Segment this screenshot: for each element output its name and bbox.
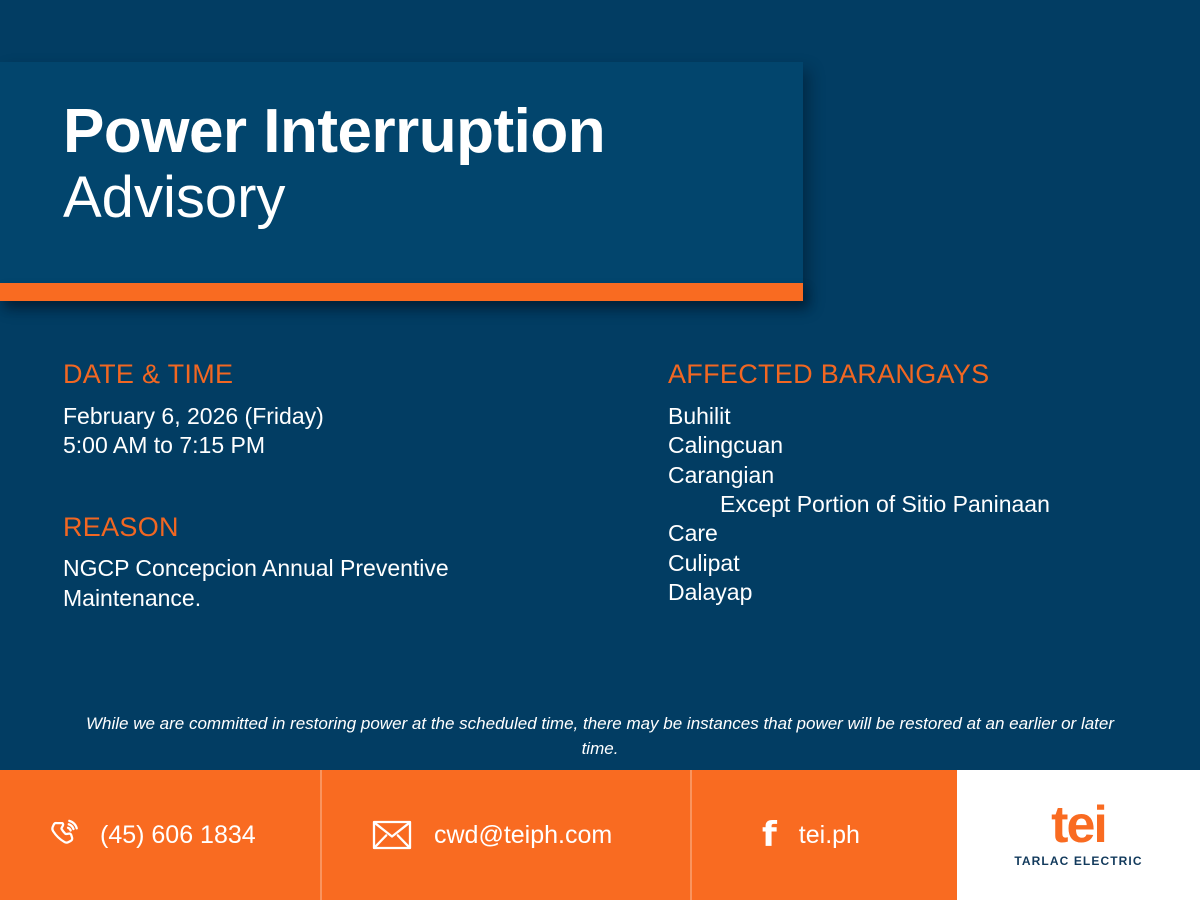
- header-panel: Power Interruption Advisory: [0, 62, 803, 300]
- reason-line-2: Maintenance.: [63, 584, 623, 613]
- reason-label: REASON: [63, 513, 623, 543]
- disclaimer-text: While we are committed in restoring powe…: [70, 712, 1130, 761]
- footer-divider-2: [690, 770, 692, 900]
- barangay-item: Culipat: [668, 549, 1168, 578]
- email-address: cwd@teiph.com: [434, 821, 612, 850]
- footer-divider-1: [320, 770, 322, 900]
- footer-bar: (45) 606 1834 cwd@teiph.com f tei.ph tei…: [0, 770, 1200, 900]
- barangay-exception-item: Except Portion of Sitio Paninaan: [668, 490, 1168, 519]
- footer-phone[interactable]: (45) 606 1834: [48, 770, 256, 900]
- time-line: 5:00 AM to 7:15 PM: [63, 431, 623, 460]
- logo-tagline: TARLAC ELECTRIC: [1014, 854, 1142, 868]
- section-spacer: [63, 461, 623, 513]
- tei-logo: tei TARLAC ELECTRIC: [957, 770, 1200, 900]
- barangay-item: Buhilit: [668, 402, 1168, 431]
- page-subtitle: Advisory: [63, 166, 605, 230]
- details-column: DATE & TIME February 6, 2026 (Friday) 5:…: [63, 360, 623, 613]
- envelope-icon: [372, 819, 412, 851]
- advisory-content: DATE & TIME February 6, 2026 (Friday) 5:…: [0, 360, 1200, 690]
- barangay-item: Calingcuan: [668, 431, 1168, 460]
- footer-facebook[interactable]: f tei.ph: [762, 770, 860, 900]
- logo-wordmark: tei: [1051, 802, 1106, 850]
- reason-value: NGCP Concepcion Annual Preventive Mainte…: [63, 554, 623, 613]
- footer-email[interactable]: cwd@teiph.com: [372, 770, 612, 900]
- reason-line-1: NGCP Concepcion Annual Preventive: [63, 554, 623, 583]
- affected-barangays-label: AFFECTED BARANGAYS: [668, 360, 1168, 390]
- barangays-column: AFFECTED BARANGAYS BuhilitCalingcuanCara…: [668, 360, 1168, 608]
- barangay-item: Care: [668, 519, 1168, 548]
- reason-block: REASON NGCP Concepcion Annual Preventive…: [63, 513, 623, 614]
- phone-number: (45) 606 1834: [100, 821, 256, 850]
- page-title: Power Interruption: [63, 100, 605, 164]
- phone-icon: [48, 818, 82, 852]
- barangay-item: Dalayap: [668, 578, 1168, 607]
- date-time-value: February 6, 2026 (Friday) 5:00 AM to 7:1…: [63, 402, 623, 461]
- barangay-item: Carangian: [668, 461, 1168, 490]
- facebook-handle: tei.ph: [799, 821, 860, 850]
- barangay-list: BuhilitCalingcuanCarangianExcept Portion…: [668, 402, 1168, 608]
- date-line: February 6, 2026 (Friday): [63, 402, 623, 431]
- facebook-icon: f: [762, 818, 777, 852]
- date-time-label: DATE & TIME: [63, 360, 623, 390]
- header-title-group: Power Interruption Advisory: [63, 100, 605, 230]
- header-accent-bar: [0, 283, 803, 301]
- date-time-block: DATE & TIME February 6, 2026 (Friday) 5:…: [63, 360, 623, 461]
